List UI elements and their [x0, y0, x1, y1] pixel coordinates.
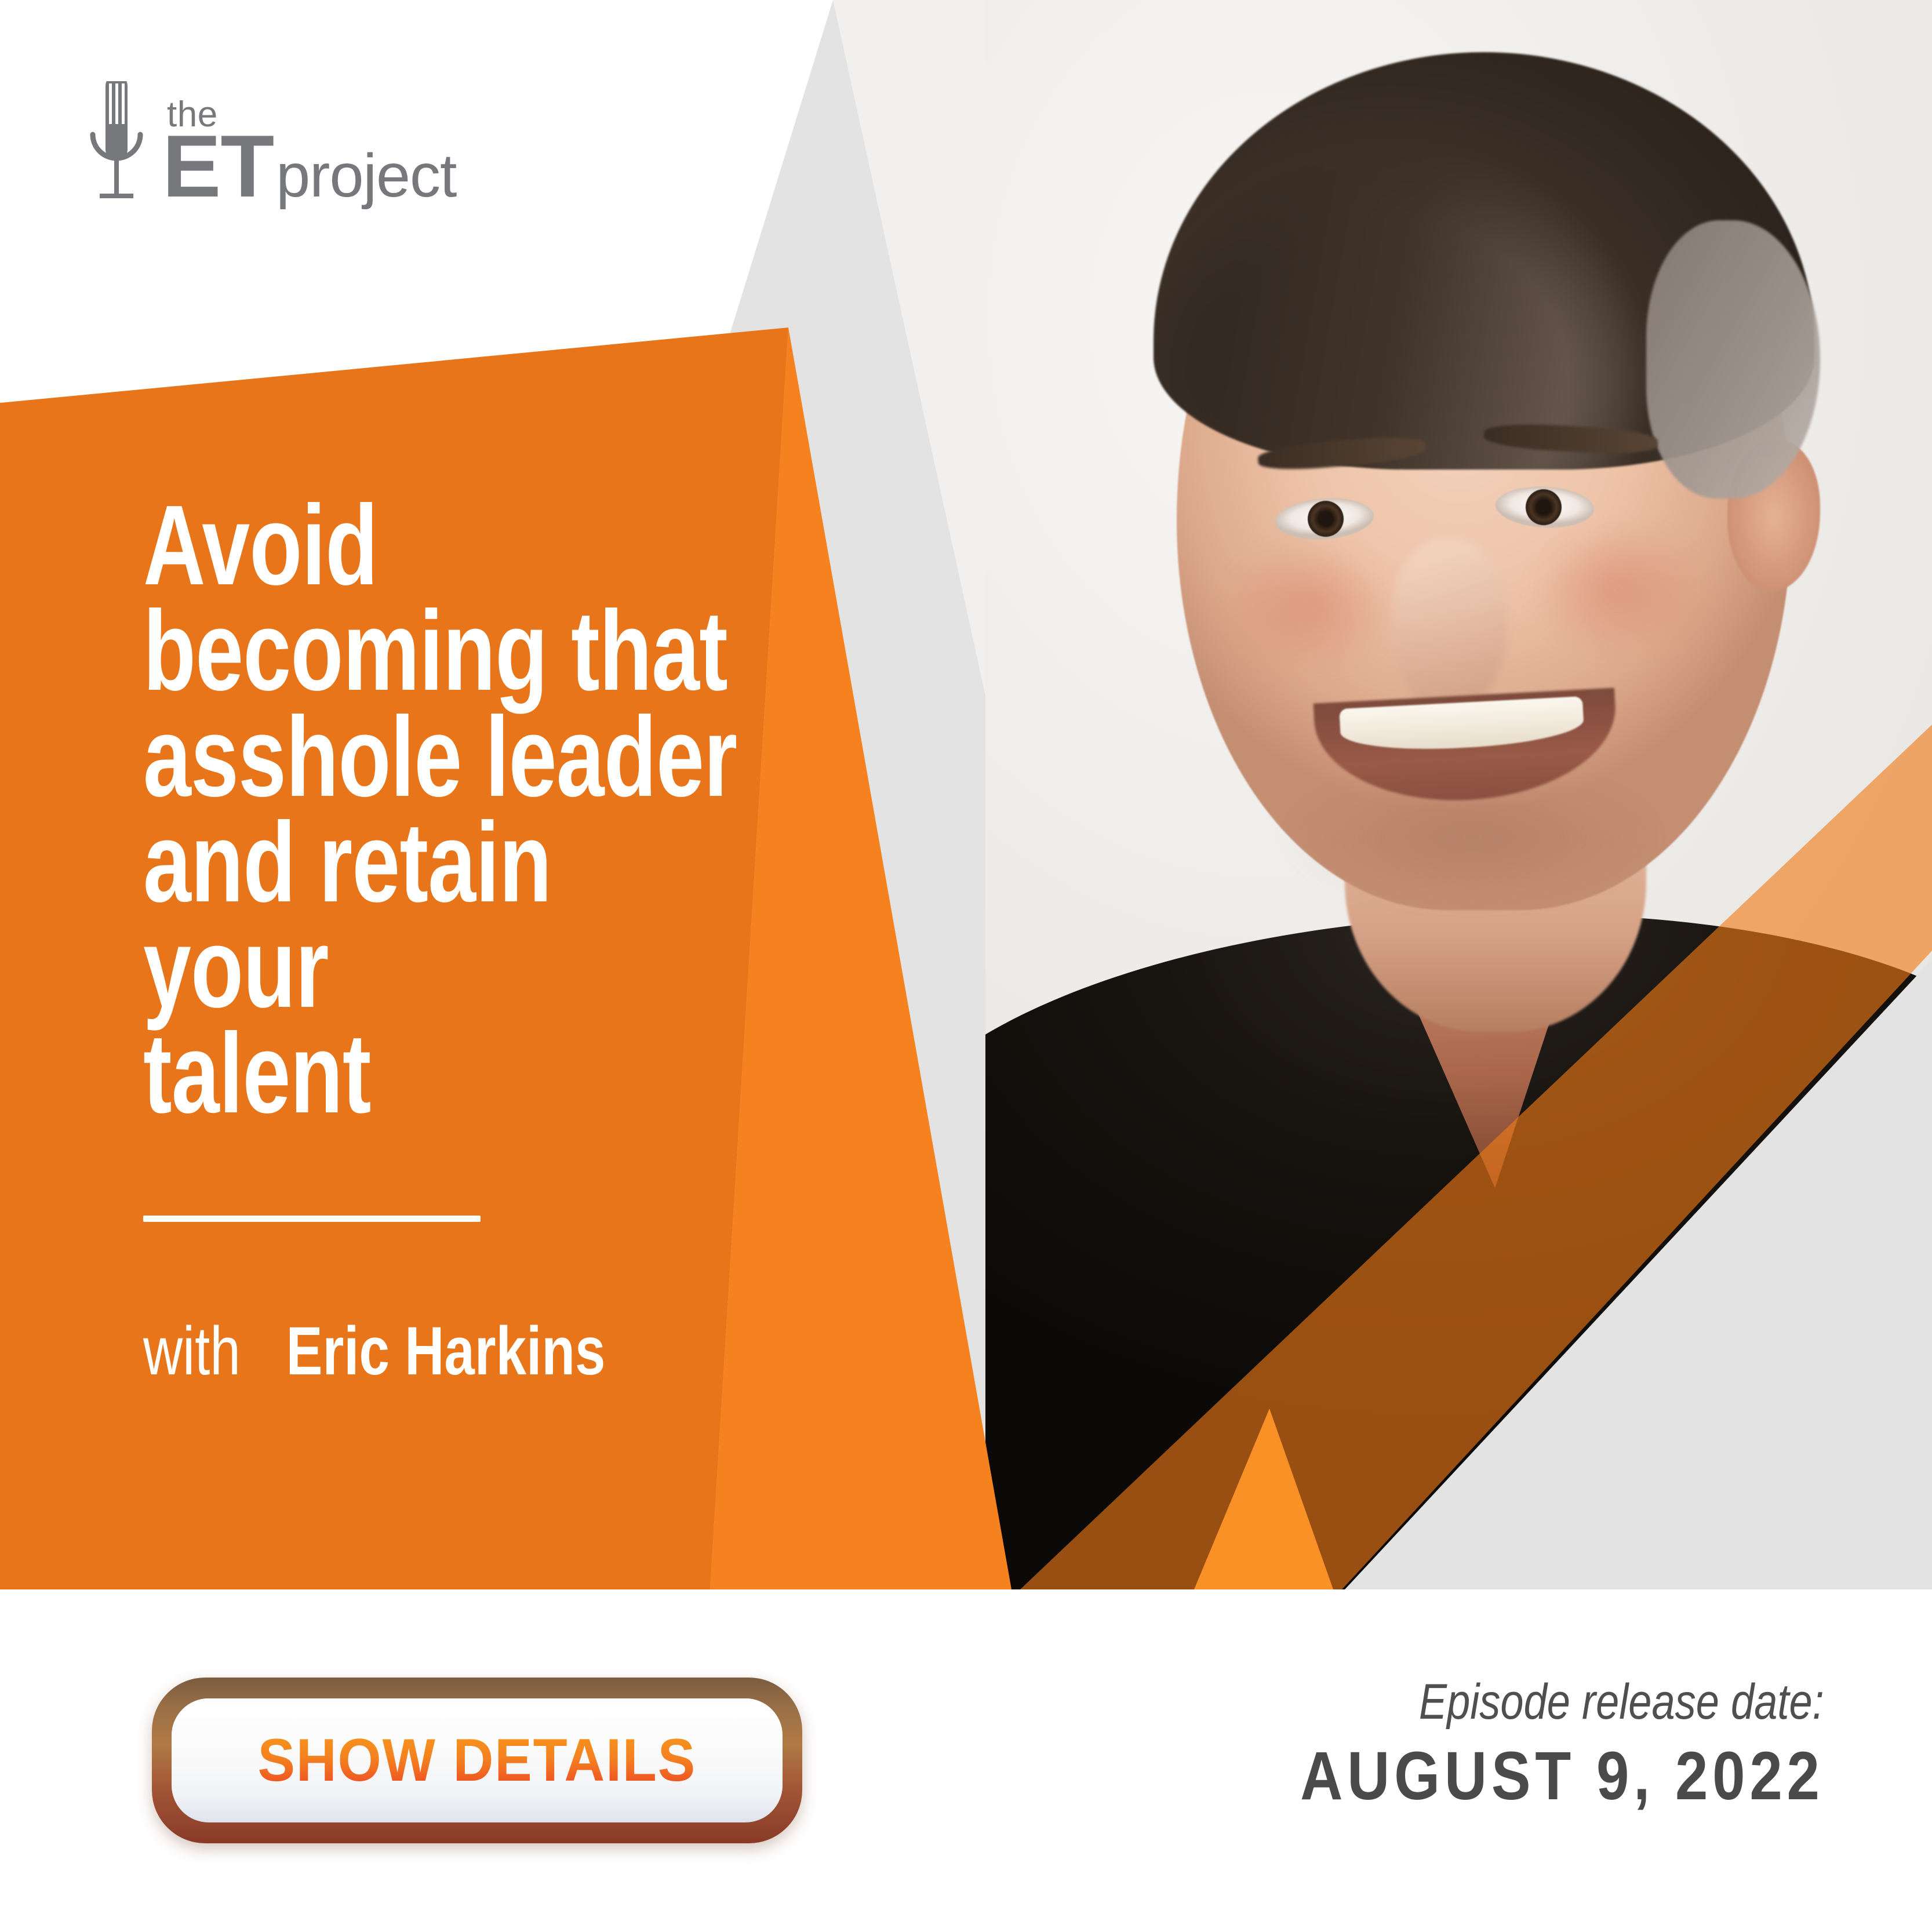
logo-main-row: ET project [162, 130, 456, 203]
guest-credit: with Eric Harkins [143, 1317, 606, 1385]
microphone-icon [88, 81, 145, 203]
episode-title: Avoid becoming that asshole leader and r… [143, 493, 760, 1127]
episode-title-line: becoming that [143, 598, 760, 704]
show-details-button[interactable]: SHOW DETAILS [152, 1678, 802, 1843]
photo-cheek-right [1530, 522, 1704, 655]
brand-logo-wordmark: the ET project [162, 99, 456, 203]
brand-logo[interactable]: the ET project [88, 81, 456, 203]
release-date-label: Episode release date: [1312, 1675, 1824, 1729]
guest-name: Eric Harkins [286, 1313, 606, 1389]
photo-nose [1391, 539, 1507, 713]
release-date-value: AUGUST 9, 2022 [1300, 1742, 1824, 1810]
poster-footer: SHOW DETAILS Episode release date: AUGUS… [0, 1589, 1932, 1932]
podcast-episode-poster: the ET project Avoid becoming that assho… [0, 0, 1932, 1932]
show-details-button-face: SHOW DETAILS [172, 1698, 783, 1822]
episode-title-line: and retain your [143, 810, 760, 1021]
episode-title-line: asshole leader [143, 704, 760, 810]
show-details-label: SHOW DETAILS [258, 1726, 697, 1795]
photo-iris-left [1308, 501, 1344, 537]
photo-cheek-left [1223, 539, 1397, 672]
show-details-wrapper: SHOW DETAILS [152, 1678, 802, 1843]
logo-et-text: ET [162, 130, 274, 203]
artwork-band: the ET project Avoid becoming that assho… [0, 0, 1932, 1589]
release-date-block: Episode release date: AUGUST 9, 2022 [1215, 1675, 1824, 1810]
photo-iris-right [1526, 489, 1562, 525]
photo-hair-temple [1646, 220, 1820, 499]
title-divider [143, 1216, 481, 1222]
episode-title-line: Avoid [143, 493, 760, 598]
logo-project-text: project [276, 151, 456, 201]
guest-credit-prefix: with [143, 1313, 241, 1389]
episode-title-line: talent [143, 1021, 760, 1126]
